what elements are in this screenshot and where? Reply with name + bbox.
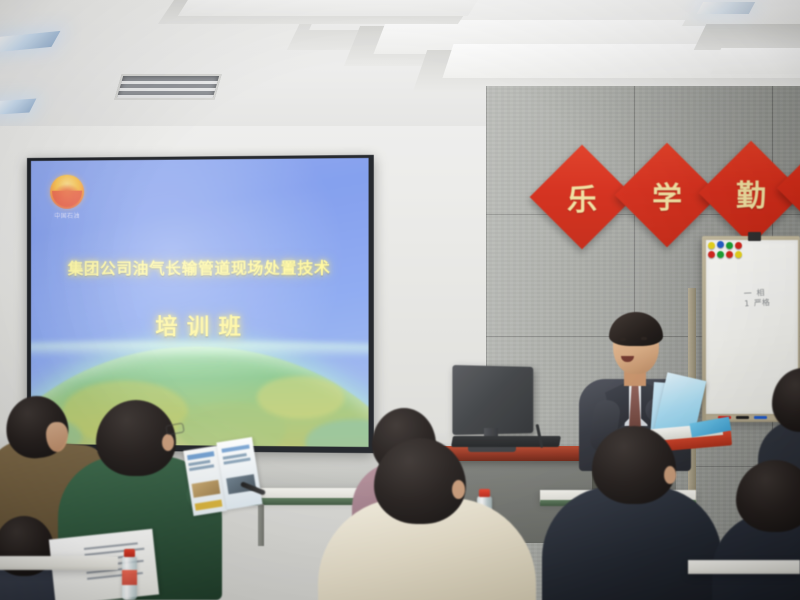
photo-scene: 中国石油 集团公司油气长输管道现场处置技术 培训班 乐 学 勤 一 相 1 严格 bbox=[0, 0, 800, 600]
magnet-icon[interactable] bbox=[735, 251, 742, 258]
desk-leg bbox=[258, 504, 264, 546]
attendee-ear bbox=[162, 434, 174, 451]
ceiling-light-icon bbox=[0, 31, 60, 53]
lcd-monitor bbox=[452, 365, 533, 435]
desk-front-left bbox=[0, 556, 118, 570]
magnet-icon[interactable] bbox=[726, 251, 733, 258]
magnet-icon[interactable] bbox=[726, 242, 733, 249]
slide-subtitle: 培训班 bbox=[31, 309, 369, 342]
desk-front-right bbox=[688, 560, 800, 574]
attendee-ear bbox=[452, 480, 465, 499]
placard-character: 勤 bbox=[736, 171, 766, 215]
magnet-icon[interactable] bbox=[708, 242, 715, 249]
presenter-eye bbox=[620, 338, 626, 341]
petrochina-logo-icon: 中国石油 bbox=[47, 175, 87, 221]
placard-character: 乐 bbox=[567, 175, 597, 219]
magnet-icon[interactable] bbox=[708, 251, 715, 258]
marker-icon[interactable] bbox=[754, 416, 767, 419]
water-bottle[interactable] bbox=[122, 556, 137, 600]
ceiling-light-icon bbox=[697, 2, 755, 14]
slide-globe-graphic bbox=[31, 346, 369, 447]
attendee-head bbox=[374, 438, 466, 524]
marker-icon[interactable] bbox=[736, 416, 749, 419]
magnet-icon[interactable] bbox=[717, 241, 724, 248]
magnet-icon[interactable] bbox=[717, 251, 724, 258]
bottle-cap bbox=[479, 489, 490, 497]
ceiling-light-icon bbox=[0, 98, 36, 115]
attendee-ear bbox=[664, 466, 676, 484]
presenter-eye bbox=[641, 337, 647, 340]
magnet-icon[interactable] bbox=[735, 242, 742, 249]
placard-character: 学 bbox=[652, 173, 682, 217]
logo-caption: 中国石油 bbox=[47, 211, 87, 220]
whiteboard-clip-icon bbox=[748, 232, 761, 241]
keyboard[interactable] bbox=[451, 436, 561, 447]
attendee-head bbox=[592, 426, 676, 504]
ceiling-vent-icon bbox=[114, 74, 221, 100]
bottle-label bbox=[122, 570, 137, 585]
handout-brochure bbox=[183, 440, 262, 516]
projected-slide: 中国石油 集团公司油气长输管道现场处置技术 培训班 bbox=[31, 158, 369, 447]
projection-screen: 中国石油 集团公司油气长输管道现场处置技术 培训班 bbox=[27, 155, 374, 453]
logo-sunburst-icon bbox=[50, 175, 84, 209]
whiteboard-writing: 一 相 1 严格 bbox=[744, 287, 795, 310]
slide-title: 集团公司油气长输管道现场处置技术 bbox=[31, 256, 369, 279]
bottle-cap bbox=[124, 549, 135, 557]
